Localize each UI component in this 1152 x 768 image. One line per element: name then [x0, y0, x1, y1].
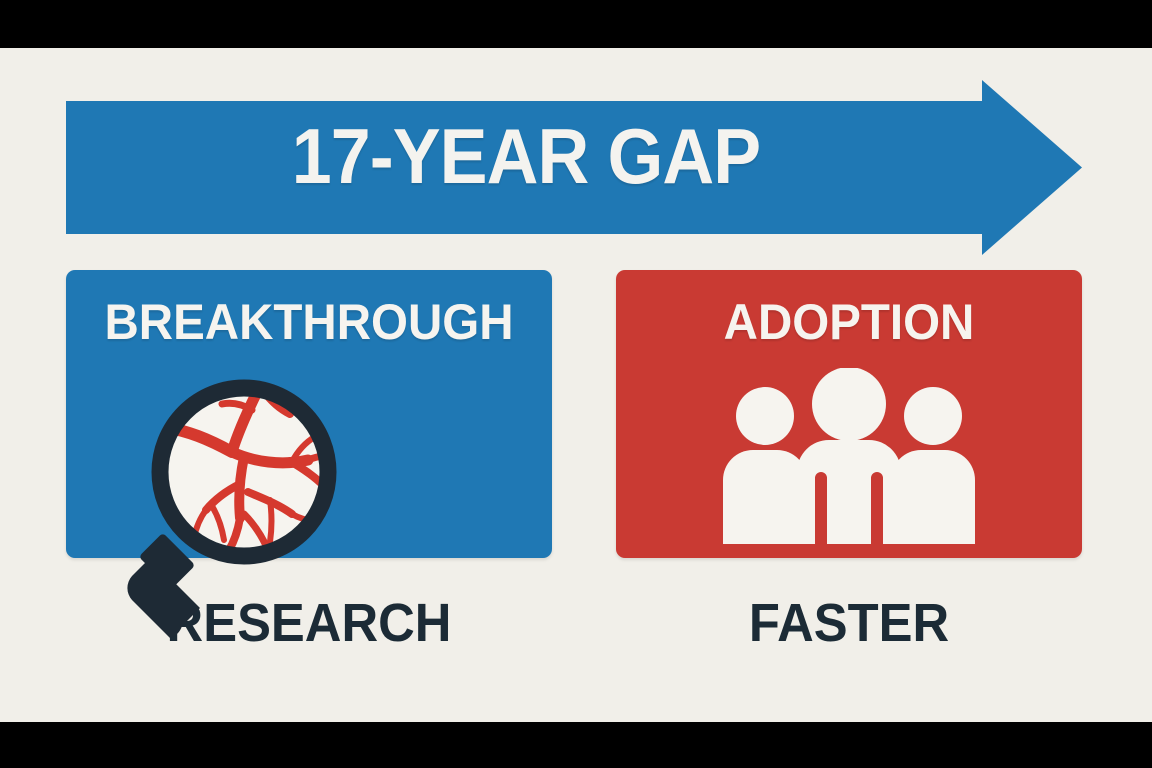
- card-breakthrough-title: BREAKTHROUGH: [78, 296, 540, 348]
- caption-research: RESEARCH: [81, 594, 538, 652]
- group-of-people-icon: [715, 368, 983, 544]
- screenshot-stage: 17-YEAR GAP BREAKTHROUGH: [0, 0, 1152, 768]
- infographic-canvas: 17-YEAR GAP BREAKTHROUGH: [0, 48, 1152, 722]
- letterbox-bar-bottom: [0, 722, 1152, 768]
- card-adoption[interactable]: ADOPTION: [616, 270, 1082, 558]
- card-adoption-title: ADOPTION: [628, 296, 1071, 348]
- banner-title: 17-YEAR GAP: [103, 116, 949, 196]
- letterbox-bar-top: [0, 0, 1152, 48]
- gap-arrow-banner: 17-YEAR GAP: [66, 80, 1082, 255]
- card-breakthrough[interactable]: BREAKTHROUGH: [66, 270, 552, 558]
- caption-faster: FASTER: [630, 594, 1068, 652]
